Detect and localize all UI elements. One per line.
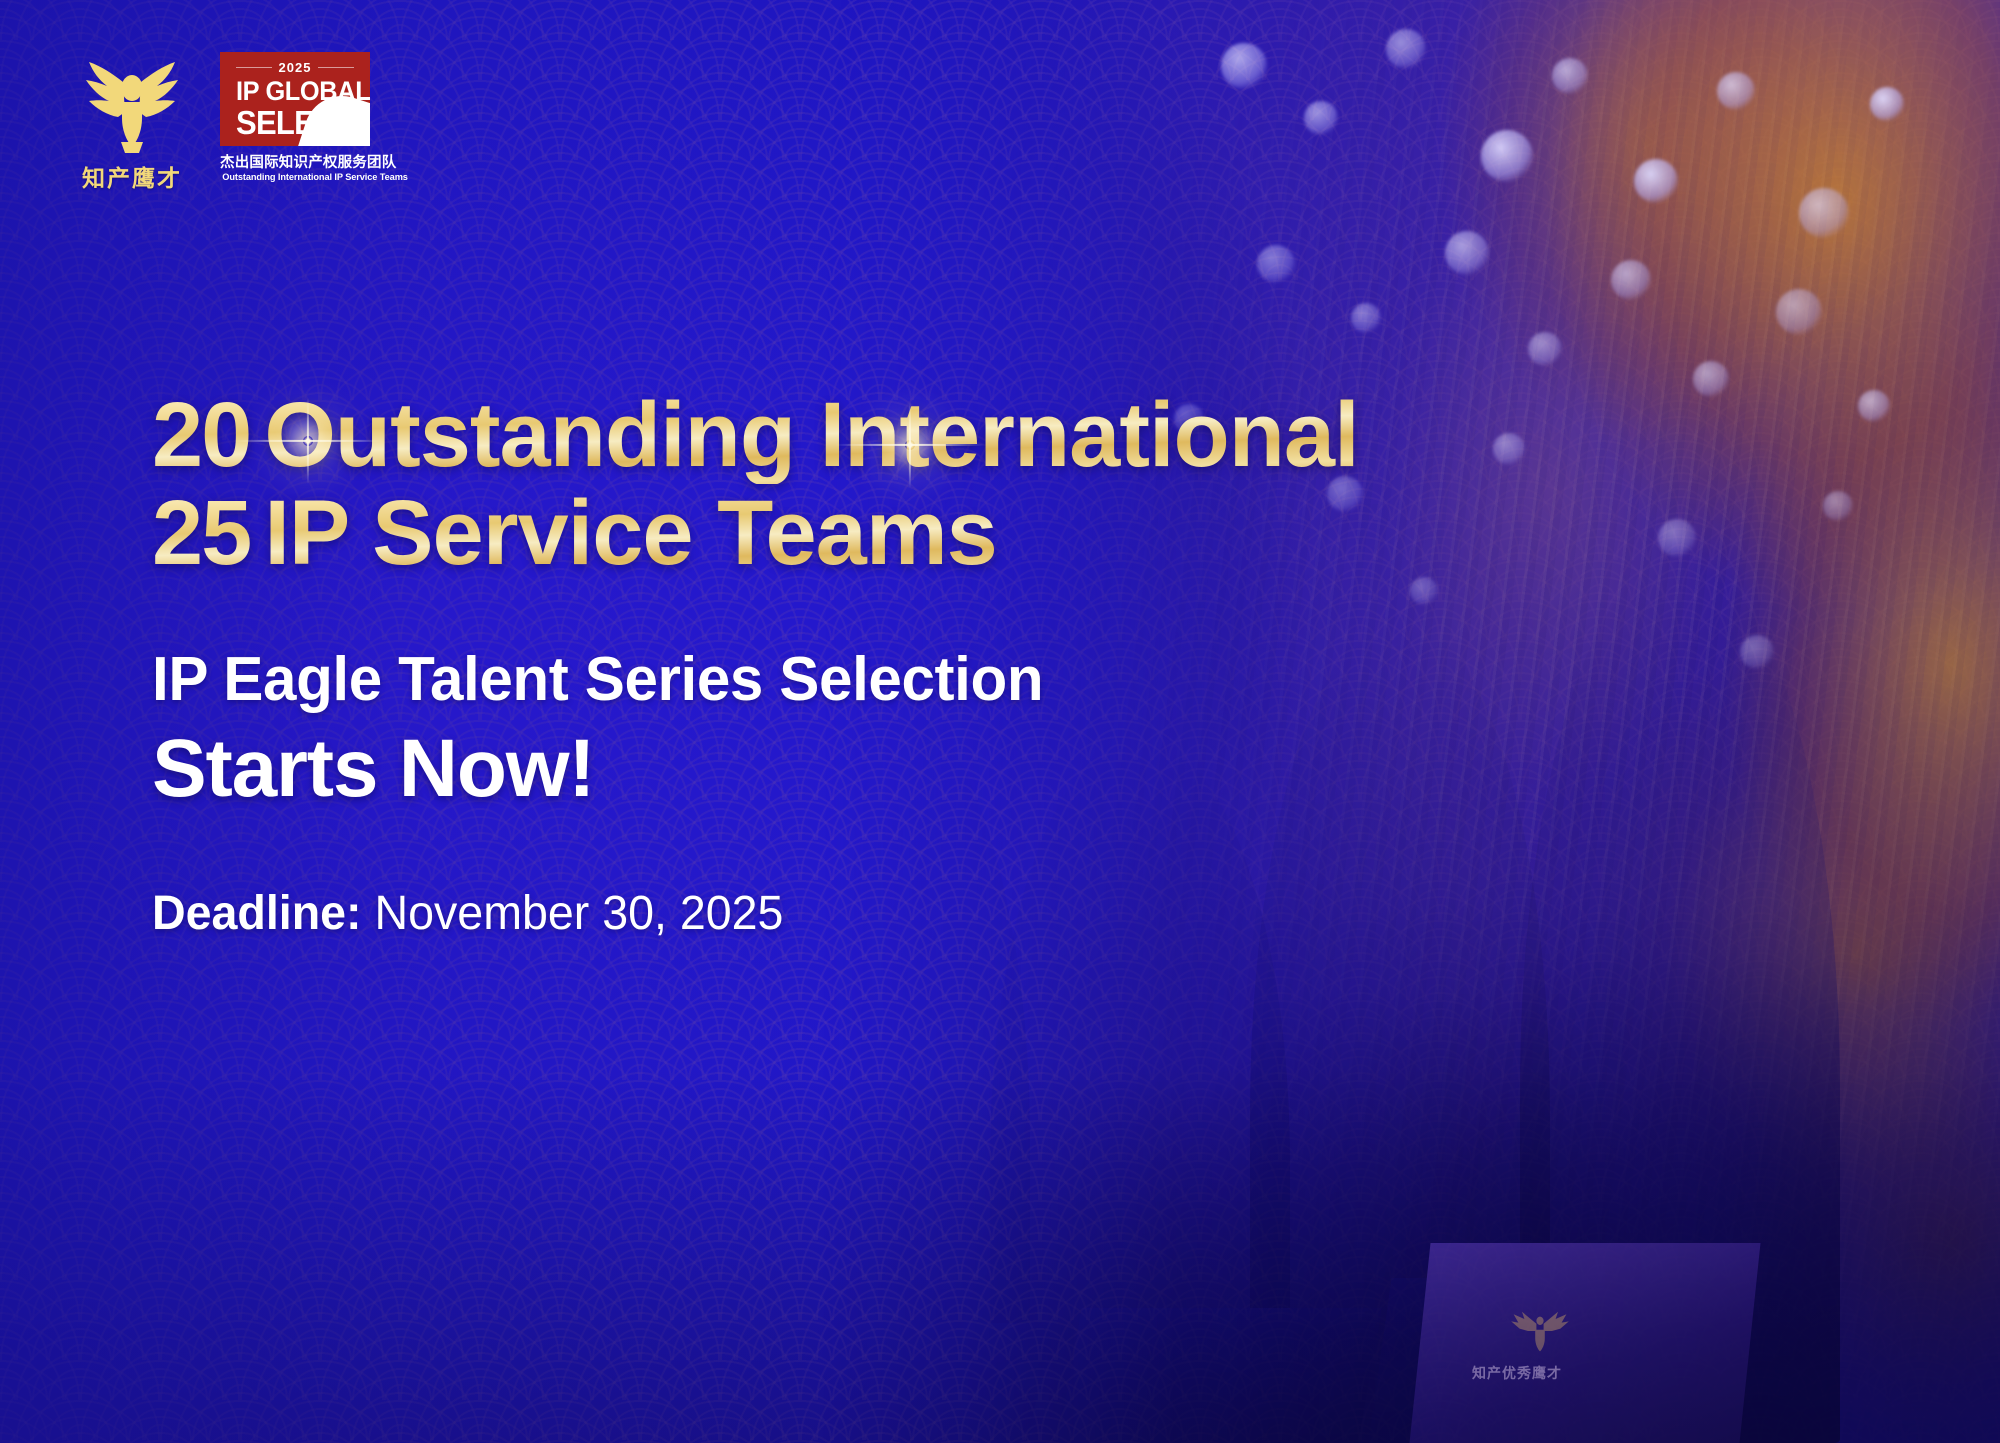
badge-rule-left: [236, 67, 272, 68]
headline-year-prefix: 20: [152, 384, 250, 486]
headline-text-1: Outstanding International: [264, 384, 1358, 486]
trophy-plate-eagle-icon: [1510, 1301, 1570, 1355]
series-subheading: IP Eagle Talent Series Selection: [152, 645, 1559, 714]
headline-line-1: 20Outstanding International: [152, 386, 1602, 484]
badge-subtitle-english: Outstanding International IP Service Tea…: [222, 172, 368, 183]
logo-bar: 知产鹰才 2025 IP GLOBAL SELECTION 杰出国际知识产权服务…: [72, 52, 370, 193]
badge-red-box: 2025 IP GLOBAL SELECTION: [220, 52, 370, 146]
promotional-banner: 知产优秀鹰才 知产鹰才 2025: [0, 0, 2000, 1443]
headline-line-2: 25IP Service Teams: [152, 484, 1602, 582]
deadline-label: Deadline:: [152, 887, 362, 940]
eagle-wings-icon: [73, 52, 191, 157]
badge-line-2: SELECTION: [236, 106, 347, 139]
trophy-base-plate: [1409, 1243, 1760, 1443]
eagle-brand-logo: 知产鹰才: [72, 52, 192, 193]
headline-block: 20Outstanding International 25IP Service…: [152, 386, 1602, 943]
eagle-brand-name: 知产鹰才: [82, 159, 182, 193]
trophy-plate-caption: 知产优秀鹰才: [1472, 1363, 1562, 1383]
badge-year: 2025: [279, 61, 312, 74]
deadline-value: November 30, 2025: [375, 887, 784, 940]
call-to-action: Starts Now!: [152, 726, 1602, 813]
badge-rule-right: [318, 67, 354, 68]
ip-global-selection-badge: 2025 IP GLOBAL SELECTION 杰出国际知识产权服务团队 Ou…: [220, 52, 370, 183]
headline-year-suffix: 25: [152, 482, 250, 584]
badge-line-1: IP GLOBAL: [236, 78, 347, 106]
deadline-row: Deadline: November 30, 2025: [152, 885, 1559, 943]
badge-year-row: 2025: [236, 61, 354, 74]
headline-text-2: IP Service Teams: [264, 482, 996, 584]
badge-subtitle-chinese: 杰出国际知识产权服务团队: [220, 151, 370, 172]
